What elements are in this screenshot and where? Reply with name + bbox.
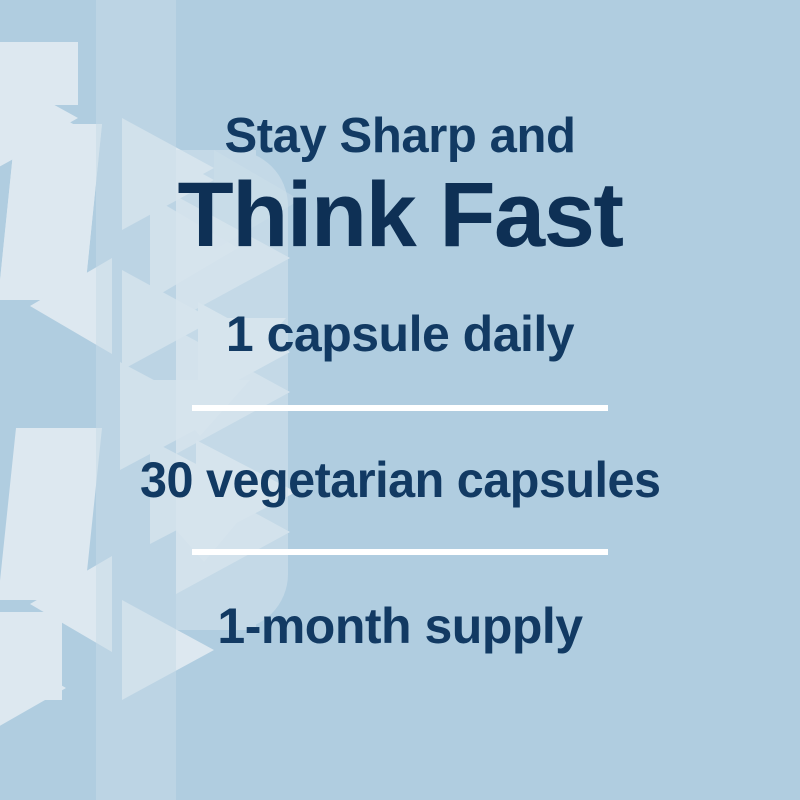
promo-content: Stay Sharp and Think Fast 1 capsule dail… <box>0 0 800 800</box>
divider-rule-bottom <box>192 549 608 555</box>
promo-headline: Think Fast <box>177 169 622 261</box>
divider-rule-top <box>192 405 608 411</box>
fact-supply: 1-month supply <box>217 601 582 651</box>
promo-eyebrow: Stay Sharp and <box>224 112 575 161</box>
fact-dosage: 1 capsule daily <box>226 309 574 359</box>
product-info-graphic: Stay Sharp and Think Fast 1 capsule dail… <box>0 0 800 800</box>
fact-count: 30 vegetarian capsules <box>140 455 660 505</box>
